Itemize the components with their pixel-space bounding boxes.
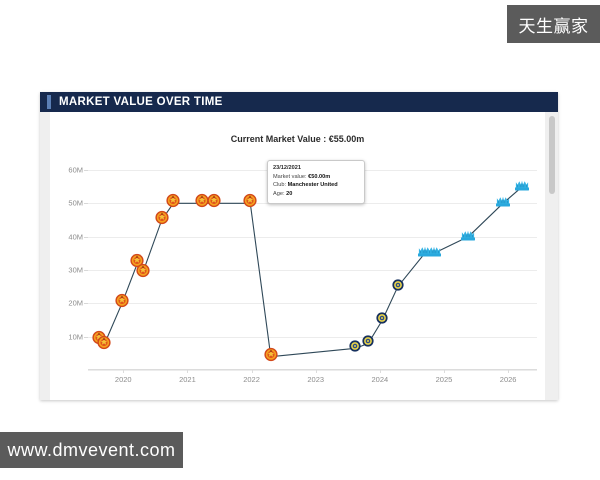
data-point-marker[interactable] [264,347,278,366]
header-accent-bar [47,95,51,109]
scrollbar-thumb[interactable] [549,116,555,194]
x-axis-tick [316,370,317,373]
page-title: MARKET VALUE OVER TIME [59,96,223,108]
tooltip-market-value: Market value: €50.00m [273,173,359,182]
x-axis-label: 2023 [307,375,324,384]
y-axis-label: 10M [68,332,83,341]
y-axis-label: 50M [68,199,83,208]
y-axis-label: 40M [68,232,83,241]
data-point-marker[interactable] [166,194,180,213]
data-point-marker[interactable] [362,334,374,352]
x-axis-tick [252,370,253,373]
tooltip-date: 23/12/2021 [273,164,359,173]
gridline [88,370,537,371]
tooltip-age: Age: 20 [273,190,359,199]
data-point-marker[interactable] [515,178,530,196]
x-axis-label: 2020 [115,375,132,384]
card-body: Current Market Value : €55.00m 10M20M30M… [40,112,558,400]
data-point-marker[interactable] [136,264,150,283]
data-point-marker[interactable] [349,339,361,357]
plot-wrapper: Current Market Value : €55.00m 10M20M30M… [50,112,545,400]
x-axis-tick [380,370,381,373]
data-point-marker[interactable] [426,244,441,262]
data-point-tooltip: 23/12/2021 Market value: €50.00m Club: M… [267,160,365,204]
data-point-marker[interactable] [115,294,129,313]
data-point-marker[interactable] [243,194,257,213]
left-gutter [40,112,50,400]
data-point-marker[interactable] [392,278,404,296]
data-point-marker[interactable] [376,311,388,329]
tooltip-market-value-amount: €50.00m [308,174,330,180]
x-axis-label: 2024 [372,375,389,384]
watermark-bottom-left-text: www.dmvevent.com [7,440,175,461]
watermark-bottom-left: www.dmvevent.com [0,432,183,468]
y-axis-label: 30M [68,266,83,275]
x-axis-tick [187,370,188,373]
tooltip-club: Club: Manchester United [273,181,359,190]
x-axis-tick [123,370,124,373]
x-axis-tick [444,370,445,373]
chart-subtitle: Current Market Value : €55.00m [50,134,545,144]
tooltip-club-name: Manchester United [288,182,338,188]
data-point-marker[interactable] [461,228,476,246]
watermark-top-right: 天生赢家 [507,5,600,43]
x-axis-label: 2025 [436,375,453,384]
tooltip-age-label: Age: [273,191,285,197]
tooltip-market-value-label: Market value: [273,174,307,180]
data-point-marker[interactable] [496,194,511,212]
x-axis-label: 2026 [500,375,517,384]
data-point-marker[interactable] [207,194,221,213]
data-point-marker[interactable] [97,336,111,355]
x-axis-label: 2021 [179,375,196,384]
y-axis-label: 20M [68,299,83,308]
tooltip-club-label: Club: [273,182,286,188]
x-axis [88,369,537,370]
scrollbar-track[interactable] [545,112,558,400]
market-value-card: MARKET VALUE OVER TIME Current Market Va… [40,92,558,400]
x-axis-label: 2022 [243,375,260,384]
y-axis-label: 60M [68,166,83,175]
card-header: MARKET VALUE OVER TIME [40,92,558,112]
tooltip-age-value: 20 [286,191,292,197]
watermark-top-right-text: 天生赢家 [519,12,589,37]
x-axis-tick [508,370,509,373]
data-point-marker[interactable] [155,211,169,230]
